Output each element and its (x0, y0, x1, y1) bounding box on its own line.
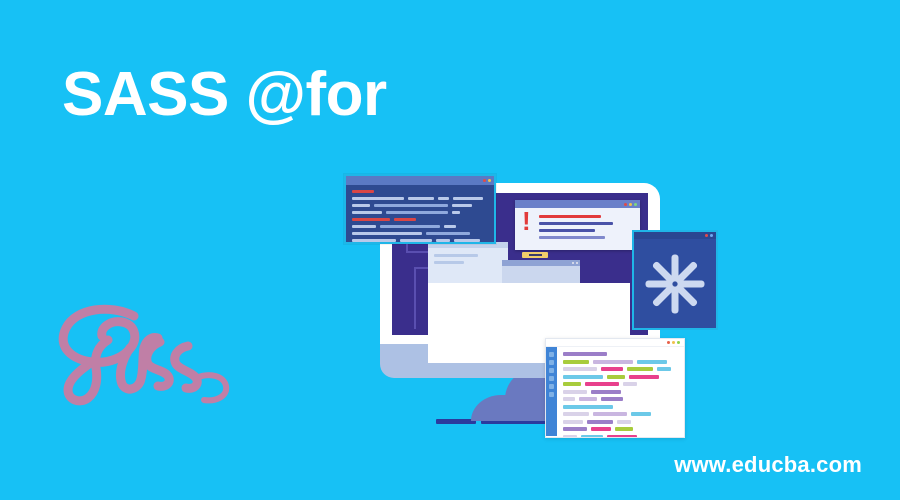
minimize-dot-icon[interactable] (672, 341, 675, 344)
code-token (579, 397, 597, 401)
code-line (352, 218, 488, 221)
code-token (581, 435, 603, 439)
code-line (563, 390, 679, 394)
coding-workstation-illustration: PYTHON ! (330, 160, 730, 445)
code-line (563, 412, 679, 416)
code-token (352, 197, 404, 200)
code-token (563, 397, 575, 401)
code-line (563, 420, 679, 424)
asterisk-panel-window[interactable] (632, 230, 718, 330)
code-editor-window[interactable] (344, 174, 496, 244)
code-token (434, 261, 464, 264)
code-token (539, 222, 613, 225)
code-token (426, 232, 470, 235)
code-token (627, 367, 653, 371)
code-line (352, 190, 488, 193)
code-line (539, 229, 633, 232)
code-line (352, 211, 488, 214)
asterisk-titlebar[interactable] (634, 232, 716, 239)
code-line (352, 204, 488, 207)
alert-dialog-window[interactable]: ! (515, 200, 640, 250)
code-token (593, 360, 633, 364)
code-token (601, 397, 623, 401)
close-dot-icon[interactable] (483, 179, 486, 182)
code-token (563, 390, 587, 394)
code-token (539, 236, 605, 239)
editor-code-area (346, 185, 494, 251)
code-token (607, 375, 625, 379)
close-dot-icon[interactable] (624, 203, 627, 206)
code-line (563, 360, 679, 364)
code-token (637, 360, 667, 364)
code-token (436, 239, 450, 242)
code-token (408, 197, 434, 200)
code-token (563, 375, 603, 379)
code-token (587, 420, 613, 424)
code-line (352, 232, 488, 235)
code-token (374, 204, 448, 207)
code-token (629, 375, 659, 379)
code-token (623, 382, 637, 386)
sass-logo (38, 288, 238, 413)
close-dot-icon[interactable] (705, 234, 708, 237)
code-token (585, 382, 619, 386)
alert-ok-button[interactable] (522, 252, 548, 258)
editor-titlebar[interactable] (346, 176, 494, 185)
code-line (352, 225, 488, 228)
code-token (380, 225, 440, 228)
code-token (434, 254, 478, 257)
code-line (539, 222, 633, 225)
code-token (593, 412, 627, 416)
syntax-code-area (557, 347, 684, 436)
code-token (563, 420, 583, 424)
minimize-dot-icon[interactable] (576, 262, 578, 264)
code-line (352, 239, 488, 242)
code-line (434, 254, 502, 257)
code-token (617, 420, 631, 424)
code-token (657, 367, 671, 371)
maximize-dot-icon[interactable] (677, 341, 680, 344)
code-token (539, 215, 601, 218)
code-token (563, 412, 589, 416)
code-token (452, 204, 472, 207)
syntax-sidebar[interactable] (546, 347, 557, 436)
code-line (563, 405, 679, 409)
asterisk-spinner-icon (643, 252, 707, 316)
close-dot-icon[interactable] (667, 341, 670, 344)
code-token (563, 352, 607, 356)
minimize-dot-icon[interactable] (488, 179, 491, 182)
code-line (352, 197, 488, 200)
minimize-dot-icon[interactable] (710, 234, 713, 237)
code-line (563, 352, 679, 356)
code-token (563, 367, 597, 371)
code-token (452, 211, 460, 214)
code-token (394, 218, 416, 221)
desk-line-left (436, 419, 476, 424)
code-token (563, 382, 581, 386)
code-token (352, 239, 396, 242)
code-line (563, 367, 679, 371)
code-token (615, 427, 633, 431)
page-title: SASS @for (62, 62, 387, 127)
code-token (386, 211, 448, 214)
code-line (539, 215, 633, 218)
code-token (631, 412, 651, 416)
alert-titlebar[interactable] (515, 200, 640, 208)
code-token (352, 190, 374, 193)
code-token (591, 427, 611, 431)
code-token (601, 367, 623, 371)
exclamation-icon: ! (522, 212, 530, 231)
code-token (607, 435, 637, 439)
code-token (563, 405, 613, 409)
code-line (563, 382, 679, 386)
code-token (591, 390, 621, 394)
code-token (454, 239, 480, 242)
code-line (434, 261, 502, 264)
code-token (352, 218, 390, 221)
close-dot-icon[interactable] (572, 262, 574, 264)
code-token (539, 229, 595, 232)
code-token (563, 360, 589, 364)
minimize-dot-icon[interactable] (629, 203, 632, 206)
code-token (563, 435, 577, 439)
code-token (453, 197, 483, 200)
code-token (352, 204, 370, 207)
code-token (563, 427, 587, 431)
code-line (563, 435, 679, 439)
code-token (438, 197, 449, 200)
maximize-dot-icon[interactable] (634, 203, 637, 206)
watermark-url: www.educba.com (674, 452, 862, 478)
code-token (400, 239, 432, 242)
syntax-titlebar[interactable] (546, 339, 684, 347)
syntax-code-window[interactable] (545, 338, 685, 438)
banner-root: SASS @for (0, 0, 900, 500)
code-token (352, 211, 382, 214)
code-line (563, 397, 679, 401)
code-line (539, 236, 633, 239)
grey-panel-titlebar[interactable] (502, 260, 580, 266)
code-token (352, 232, 422, 235)
code-line (563, 427, 679, 431)
code-token (444, 225, 456, 228)
code-line (563, 375, 679, 379)
code-token (352, 225, 376, 228)
